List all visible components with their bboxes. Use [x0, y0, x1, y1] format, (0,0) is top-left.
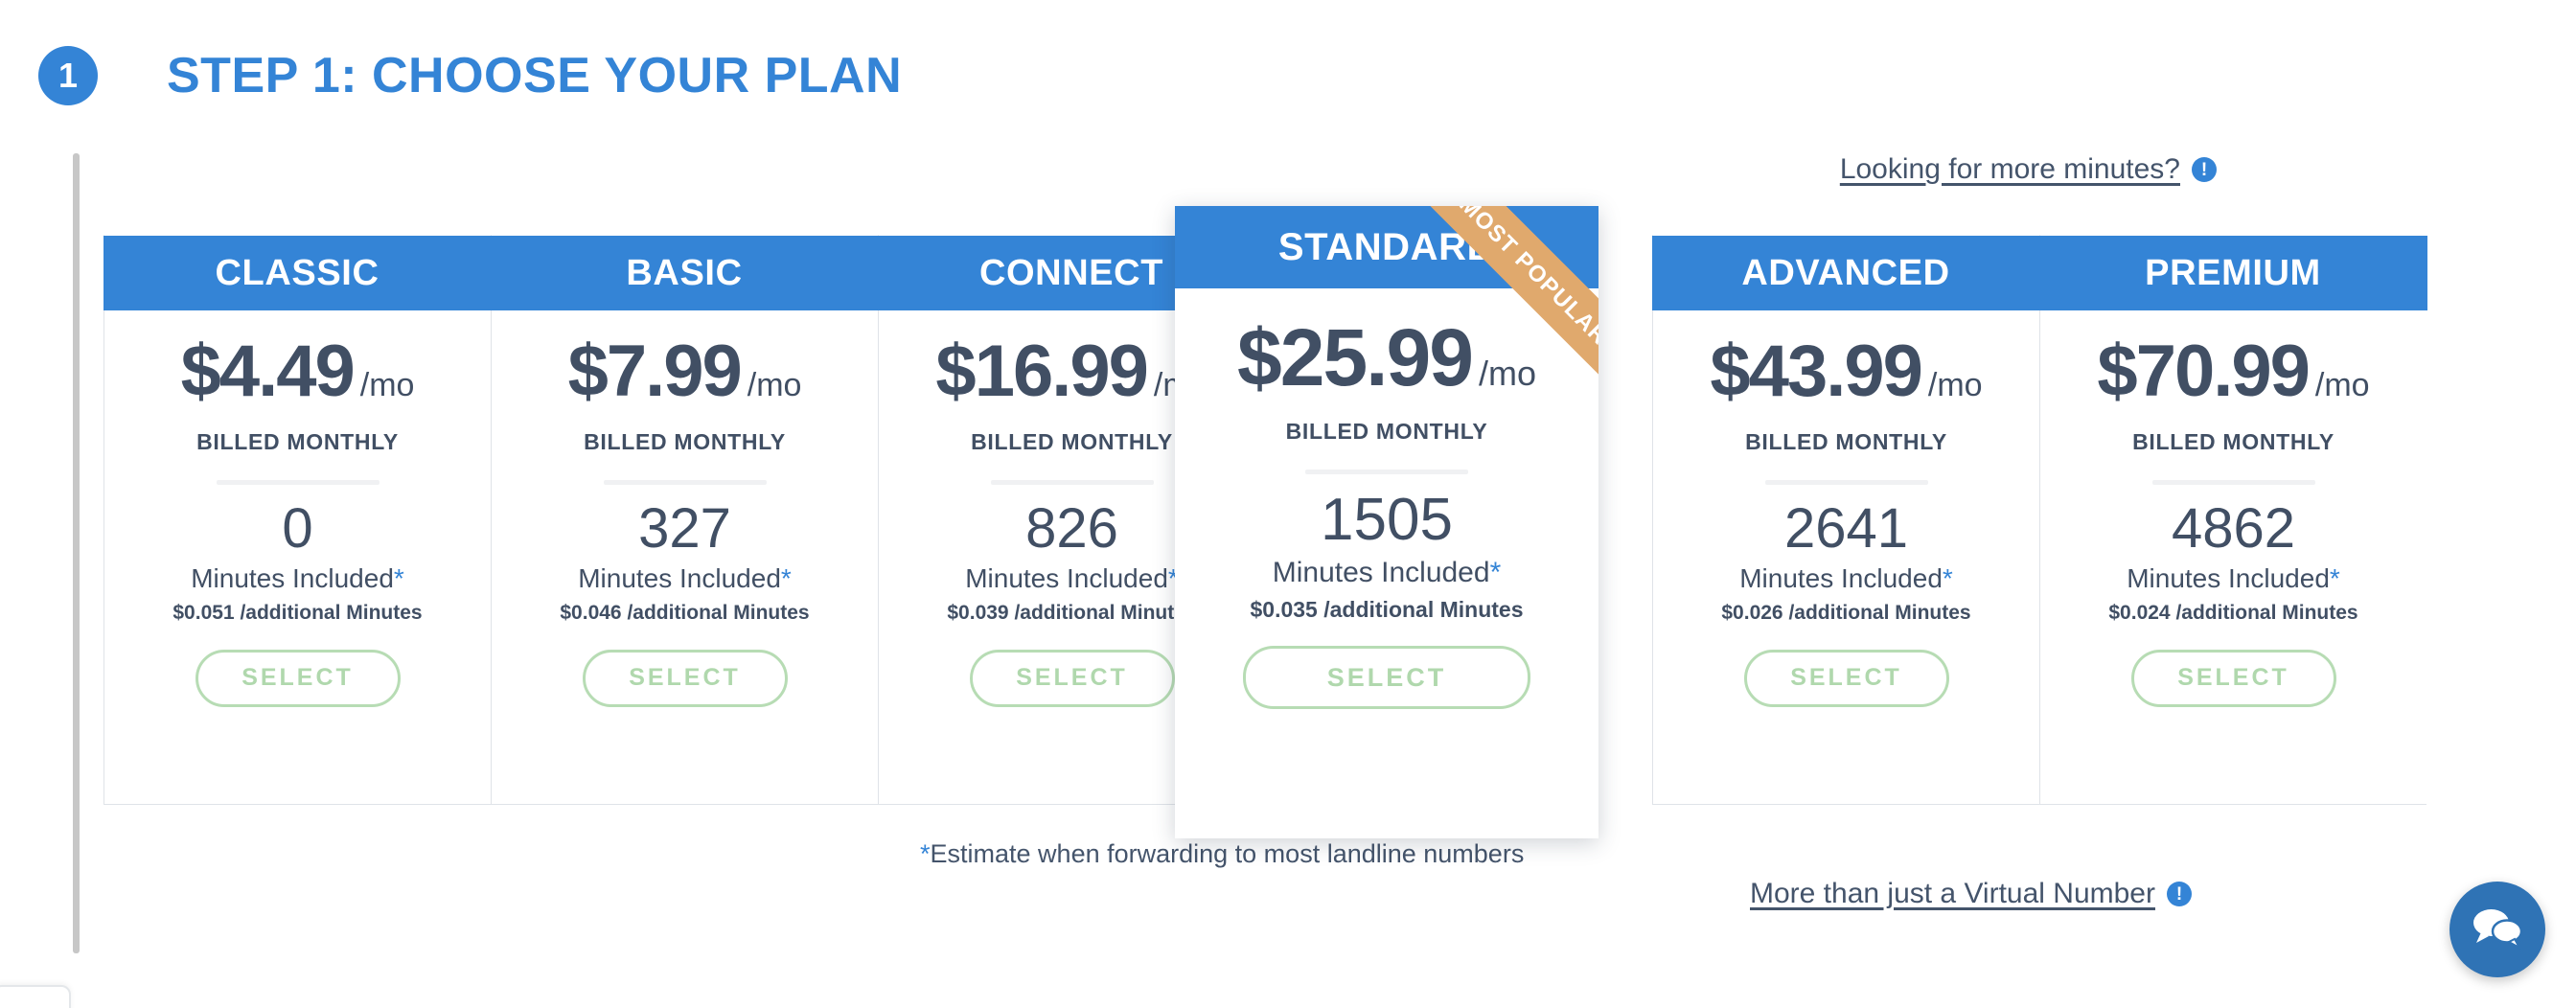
plan-additional-rate-advanced: $0.026 /additional Minutes: [1721, 602, 1970, 625]
plan-minutes-label-classic: Minutes Included*: [191, 563, 404, 594]
plan-divider-advanced: [1765, 480, 1928, 485]
plan-period-advanced: /mo: [1928, 367, 1983, 404]
step-vertical-rail: [73, 153, 80, 953]
plan-price-row-basic: $7.99 /mo: [568, 335, 802, 408]
select-button-classic[interactable]: SELECT: [195, 650, 401, 707]
plan-period-classic: /mo: [360, 367, 415, 404]
plan-billed-classic: BILLED MONTHLY: [196, 429, 399, 455]
page-corner-chip: [0, 985, 71, 1008]
plan-divider-standard: [1305, 470, 1468, 474]
select-button-standard[interactable]: SELECT: [1243, 646, 1530, 709]
plan-minutes-basic: 327: [638, 498, 731, 560]
info-icon[interactable]: !: [2192, 157, 2217, 182]
plan-name-advanced: ADVANCED: [1652, 236, 2040, 310]
plan-minutes-advanced: 2641: [1784, 498, 1908, 560]
plan-minutes-premium: 4862: [2172, 498, 2295, 560]
select-button-basic[interactable]: SELECT: [583, 650, 788, 707]
plan-period-basic: /mo: [747, 367, 802, 404]
plan-billed-connect: BILLED MONTHLY: [971, 429, 1173, 455]
pricing-plans: CLASSIC $4.49 /mo BILLED MONTHLY 0 Minut…: [103, 235, 2426, 810]
looking-for-more-minutes-label: Looking for more minutes?: [1840, 153, 2180, 186]
step-number-badge: 1: [38, 46, 98, 105]
plan-name-premium: PREMIUM: [2039, 236, 2427, 310]
plan-name-basic: BASIC: [491, 236, 879, 310]
plan-additional-rate-basic: $0.046 /additional Minutes: [560, 602, 809, 625]
plan-price-advanced: $43.99: [1710, 335, 1920, 408]
plan-price-standard: $25.99: [1237, 317, 1472, 398]
plan-divider-premium: [2152, 480, 2315, 485]
page-title: STEP 1: CHOOSE YOUR PLAN: [167, 47, 902, 104]
select-button-connect[interactable]: SELECT: [970, 650, 1175, 707]
plan-divider-classic: [217, 480, 379, 485]
plan-billed-premium: BILLED MONTHLY: [2132, 429, 2334, 455]
plan-card-advanced[interactable]: ADVANCED $43.99 /mo BILLED MONTHLY 2641 …: [1652, 235, 2039, 805]
estimate-footnote: *Estimate when forwarding to most landli…: [920, 839, 1524, 869]
asterisk-marker: *: [920, 839, 931, 868]
plan-minutes-label-connect: Minutes Included*: [965, 563, 1179, 594]
info-icon[interactable]: !: [2167, 882, 2192, 906]
plan-price-row-connect: $16.99 /mo: [935, 335, 1207, 408]
plan-price-row-standard: $25.99 /mo: [1237, 317, 1536, 398]
plan-body-advanced: $43.99 /mo BILLED MONTHLY 2641 Minutes I…: [1653, 310, 2039, 707]
plan-price-row-premium: $70.99 /mo: [2097, 335, 2369, 408]
plan-divider-connect: [991, 480, 1154, 485]
plan-card-standard[interactable]: MOST POPULAR STANDARD $25.99 /mo BILLED …: [1175, 206, 1598, 838]
plan-minutes-label-basic: Minutes Included*: [578, 563, 792, 594]
plan-price-row-advanced: $43.99 /mo: [1710, 335, 1982, 408]
plan-body-standard: $25.99 /mo BILLED MONTHLY 1505 Minutes I…: [1175, 288, 1598, 709]
plan-additional-rate-connect: $0.039 /additional Minutes: [947, 602, 1196, 625]
looking-for-more-minutes-link[interactable]: Looking for more minutes? !: [1840, 153, 2217, 186]
plan-minutes-label-advanced: Minutes Included*: [1739, 563, 1953, 594]
plan-billed-basic: BILLED MONTHLY: [584, 429, 786, 455]
asterisk-marker: *: [1943, 563, 1953, 593]
estimate-footnote-text: Estimate when forwarding to most landlin…: [931, 839, 1525, 868]
plan-body-premium: $70.99 /mo BILLED MONTHLY 4862 Minutes I…: [2040, 310, 2426, 707]
plan-additional-rate-premium: $0.024 /additional Minutes: [2108, 602, 2357, 625]
plan-price-connect: $16.99: [935, 335, 1146, 408]
asterisk-marker: *: [2330, 563, 2340, 593]
plan-additional-rate-standard: $0.035 /additional Minutes: [1250, 597, 1523, 623]
plan-minutes-classic: 0: [282, 498, 312, 560]
more-than-virtual-number-link[interactable]: More than just a Virtual Number !: [1750, 878, 2192, 910]
plan-card-classic[interactable]: CLASSIC $4.49 /mo BILLED MONTHLY 0 Minut…: [103, 235, 491, 805]
plan-body-classic: $4.49 /mo BILLED MONTHLY 0 Minutes Inclu…: [104, 310, 491, 707]
plan-body-basic: $7.99 /mo BILLED MONTHLY 327 Minutes Inc…: [492, 310, 878, 707]
asterisk-marker: *: [781, 563, 792, 593]
plan-price-basic: $7.99: [568, 335, 741, 408]
plan-minutes-label-standard: Minutes Included*: [1273, 557, 1502, 589]
plan-billed-standard: BILLED MONTHLY: [1286, 419, 1488, 445]
chat-bubbles-icon: [2470, 905, 2525, 955]
plan-period-standard: /mo: [1479, 354, 1536, 394]
asterisk-marker: *: [1490, 557, 1502, 588]
step-header: 1 STEP 1: CHOOSE YOUR PLAN: [38, 46, 902, 105]
select-button-advanced[interactable]: SELECT: [1744, 650, 1949, 707]
pricing-page: 1 STEP 1: CHOOSE YOUR PLAN Looking for m…: [0, 0, 2576, 1008]
plan-billed-advanced: BILLED MONTHLY: [1745, 429, 1947, 455]
plan-name-classic: CLASSIC: [103, 236, 492, 310]
plan-price-row-classic: $4.49 /mo: [181, 335, 415, 408]
plan-card-premium[interactable]: PREMIUM $70.99 /mo BILLED MONTHLY 4862 M…: [2039, 235, 2426, 805]
select-button-premium[interactable]: SELECT: [2131, 650, 2336, 707]
plan-minutes-standard: 1505: [1321, 488, 1453, 553]
plan-minutes-label-premium: Minutes Included*: [2127, 563, 2340, 594]
plan-card-basic[interactable]: BASIC $7.99 /mo BILLED MONTHLY 327 Minut…: [491, 235, 878, 805]
plan-price-premium: $70.99: [2097, 335, 2308, 408]
more-than-virtual-number-label: More than just a Virtual Number: [1750, 878, 2155, 910]
plan-price-classic: $4.49: [181, 335, 354, 408]
plan-minutes-connect: 826: [1025, 498, 1118, 560]
plan-additional-rate-classic: $0.051 /additional Minutes: [172, 602, 422, 625]
asterisk-marker: *: [394, 563, 404, 593]
chat-widget-button[interactable]: [2449, 882, 2545, 977]
plan-divider-basic: [604, 480, 767, 485]
plan-period-premium: /mo: [2315, 367, 2370, 404]
